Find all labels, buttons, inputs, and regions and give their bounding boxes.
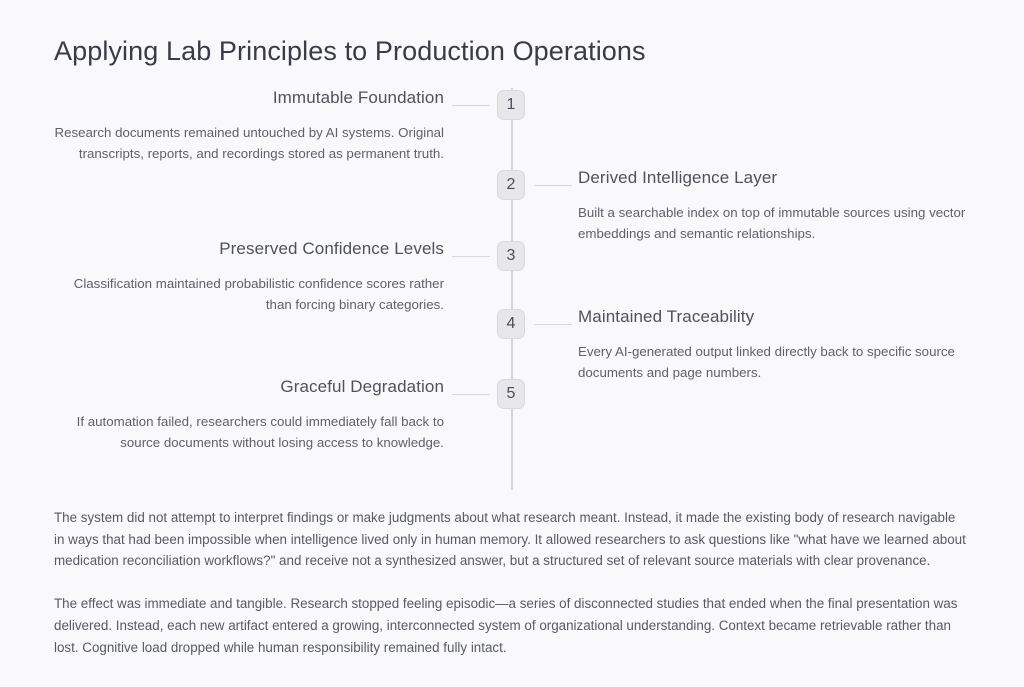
node-title: Derived Intelligence Layer: [578, 167, 970, 190]
paragraph: The effect was immediate and tangible. R…: [54, 593, 969, 658]
timeline-marker-4[interactable]: 4: [497, 309, 525, 339]
node-description: Built a searchable index on top of immut…: [578, 202, 970, 245]
timeline-page: Applying Lab Principles to Production Op…: [0, 0, 1024, 687]
connector-line: [534, 185, 572, 186]
timeline-content-4: Maintained Traceability Every AI-generat…: [578, 306, 970, 384]
timeline: 1 Immutable Foundation Research document…: [0, 0, 1024, 500]
timeline-marker-1[interactable]: 1: [497, 90, 525, 120]
node-description: Classification maintained probabilistic …: [52, 273, 444, 316]
timeline-content-2: Derived Intelligence Layer Built a searc…: [578, 167, 970, 245]
timeline-content-1: Immutable Foundation Research documents …: [52, 87, 444, 165]
closing-prose: The system did not attempt to interpret …: [54, 507, 969, 658]
node-title: Graceful Degradation: [52, 376, 444, 399]
node-description: If automation failed, researchers could …: [52, 411, 444, 454]
paragraph: The system did not attempt to interpret …: [54, 507, 969, 572]
node-title: Maintained Traceability: [578, 306, 970, 329]
timeline-marker-2[interactable]: 2: [497, 170, 525, 200]
node-description: Research documents remained untouched by…: [52, 122, 444, 165]
connector-line: [534, 324, 572, 325]
timeline-content-5: Graceful Degradation If automation faile…: [52, 376, 444, 454]
connector-line: [452, 105, 490, 106]
timeline-content-3: Preserved Confidence Levels Classificati…: [52, 238, 444, 316]
connector-line: [452, 394, 490, 395]
node-title: Immutable Foundation: [52, 87, 444, 110]
timeline-marker-5[interactable]: 5: [497, 379, 525, 409]
node-title: Preserved Confidence Levels: [52, 238, 444, 261]
timeline-marker-3[interactable]: 3: [497, 241, 525, 271]
node-description: Every AI-generated output linked directl…: [578, 341, 970, 384]
connector-line: [452, 256, 490, 257]
timeline-spine: [511, 88, 513, 490]
